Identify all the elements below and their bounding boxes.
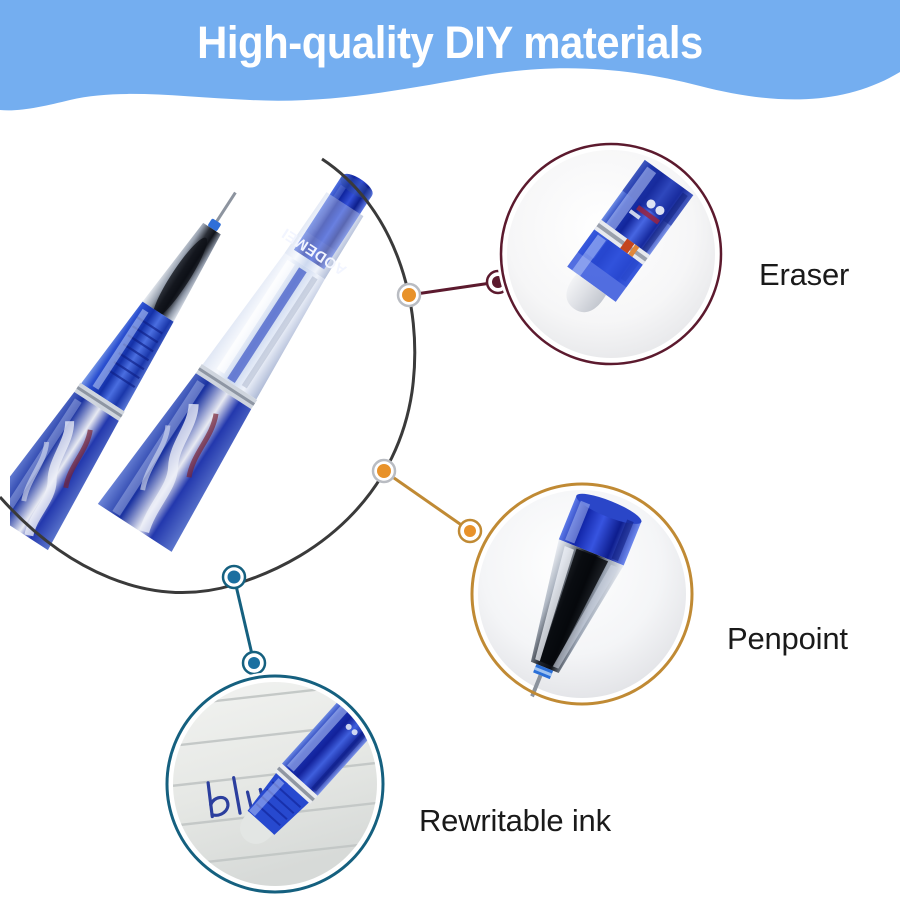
node-hub-eraser (398, 284, 420, 306)
label-eraser: Eraser (759, 257, 849, 293)
callout-penpoint[interactable] (468, 480, 696, 708)
label-rewritable-ink: Rewritable ink (419, 803, 611, 839)
callout-eraser-art (497, 140, 725, 368)
node-rewritable-ink-circle (243, 652, 265, 674)
infographic-root: High-quality DIY materials (0, 0, 900, 900)
connector-line-rewritable-ink (234, 577, 254, 663)
header-banner: High-quality DIY materials (0, 0, 900, 118)
connector-line-eraser (409, 282, 498, 295)
page-title: High-quality DIY materials (32, 16, 869, 70)
callout-eraser[interactable] (497, 140, 725, 368)
connector-line-penpoint (384, 471, 470, 531)
label-penpoint: Penpoint (727, 621, 848, 657)
callout-rewritable-ink-art (163, 672, 387, 896)
callout-rewritable-ink[interactable] (163, 672, 387, 896)
callout-penpoint-art (468, 480, 696, 708)
node-hub-rewritable-ink (223, 566, 245, 588)
product-photo-pens: AODEMEI (10, 145, 390, 565)
